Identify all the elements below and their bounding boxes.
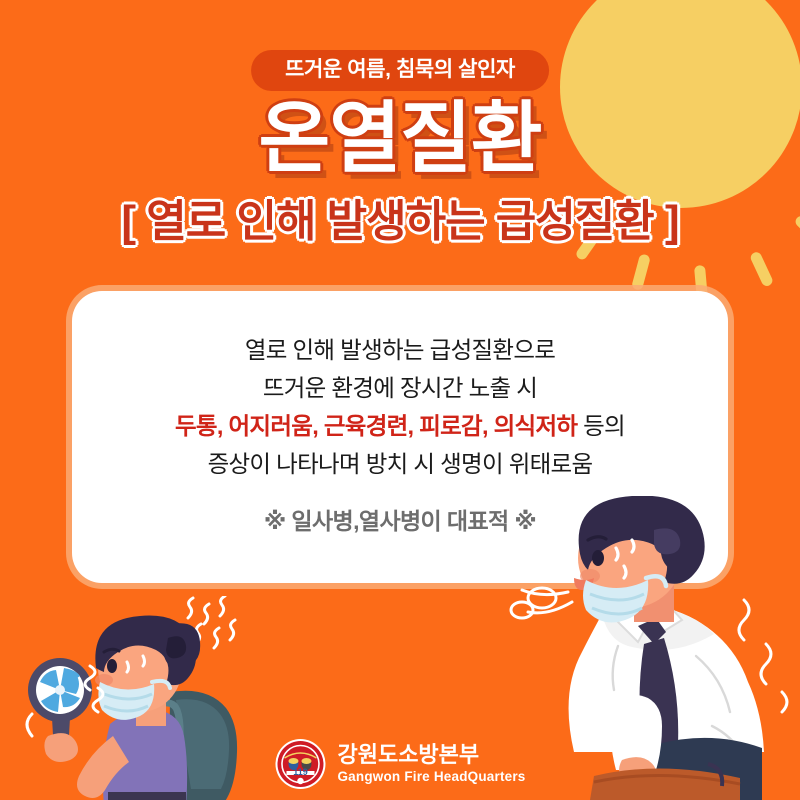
collar-left <box>618 606 650 642</box>
footer-org-korean: 강원도소방본부 <box>337 744 525 766</box>
description-card: 열로 인해 발생하는 급성질환으로 뜨거운 환경에 장시간 노출 시 두통, 어… <box>72 291 728 583</box>
shirt-shoulder <box>602 605 714 650</box>
mask-ear-loop <box>152 681 170 688</box>
tagline-badge: 뜨거운 여름, 침묵의 살인자 <box>251 50 549 91</box>
footer-org-english: Gangwon Fire HeadQuarters <box>337 770 525 784</box>
description-line-4: 증상이 나타나며 방치 시 생명이 위태로움 <box>72 445 728 483</box>
arm <box>77 736 129 798</box>
description-line-1: 열로 인해 발생하는 급성질환으로 <box>72 331 728 369</box>
mask-fold <box>104 706 148 711</box>
description-note: ※ 일사병,열사병이 대표적 ※ <box>72 502 728 536</box>
tie-knot <box>638 618 666 644</box>
mask-fold <box>590 594 644 600</box>
fan-blades <box>40 668 80 712</box>
description-text: 열로 인해 발생하는 급성질환으로 뜨거운 환경에 장시간 노출 시 두통, 어… <box>72 331 728 483</box>
fan-handle <box>52 718 70 752</box>
page-subtitle: [ 열로 인해 발생하는 급성질환 ] <box>0 198 800 246</box>
symptom-highlight: 두통, 어지러움, 근육경련, 피로감, 의식저하 <box>175 413 577 439</box>
shirt-folds <box>613 646 742 754</box>
hand <box>44 733 78 762</box>
face-mask-icon <box>583 580 648 623</box>
sweat-drop <box>127 662 129 672</box>
sun-ray-icon <box>749 250 774 287</box>
neck <box>634 580 674 622</box>
mask-fold <box>104 694 152 699</box>
collar-right <box>646 600 682 636</box>
heat-illness-infographic-poster: 뜨거운 여름, 침묵의 살인자 온열질환 [ 열로 인해 발생하는 급성질환 ]… <box>0 0 800 800</box>
backpack-icon <box>169 691 237 800</box>
svg-text:119: 119 <box>293 767 308 777</box>
fan-hub <box>55 685 65 695</box>
blush <box>95 674 113 686</box>
hair-bun <box>162 623 200 668</box>
sun-ray-icon <box>631 253 651 291</box>
trousers <box>646 738 762 800</box>
tie <box>639 638 678 766</box>
briefcase-handle <box>708 764 722 786</box>
dress-shirt <box>569 605 764 752</box>
page-title: 온열질환 <box>0 98 800 180</box>
backpack-front <box>176 699 229 789</box>
footer-org-text: 강원도소방본부 Gangwon Fire HeadQuarters <box>337 744 525 784</box>
fan-face <box>36 666 84 714</box>
eye <box>107 659 117 673</box>
fire-department-emblem-icon: 119 <box>274 738 326 790</box>
shorts <box>108 792 186 800</box>
footer-logo: 119 강원도소방본부 Gangwon Fire HeadQuarters <box>274 738 525 790</box>
eyebrow <box>104 649 119 652</box>
description-line-2: 뜨거운 환경에 장시간 노출 시 <box>72 369 728 407</box>
heat-squiggle-icon <box>188 596 235 648</box>
hair-highlight <box>166 636 186 658</box>
description-line-3: 두통, 어지러움, 근육경련, 피로감, 의식저하 등의 <box>72 407 728 445</box>
backpack-strap <box>159 703 180 778</box>
neck <box>136 692 166 726</box>
face <box>98 624 182 712</box>
description-line-3-rest: 등의 <box>577 413 625 439</box>
briefcase-seam <box>594 775 740 784</box>
heat-squiggle-icon <box>739 600 787 712</box>
hair <box>95 616 196 686</box>
face-mask-icon <box>98 682 154 720</box>
hand <box>619 757 657 789</box>
fan-housing <box>28 658 92 722</box>
sleeve <box>610 695 662 770</box>
breath-puff-icon <box>511 588 572 618</box>
briefcase <box>590 768 740 800</box>
tank-top <box>103 709 187 800</box>
wind-lines-icon <box>27 666 103 736</box>
illustration-woman-with-fan <box>18 596 278 800</box>
sweat-drop <box>143 656 145 666</box>
mask-fold <box>592 608 642 614</box>
